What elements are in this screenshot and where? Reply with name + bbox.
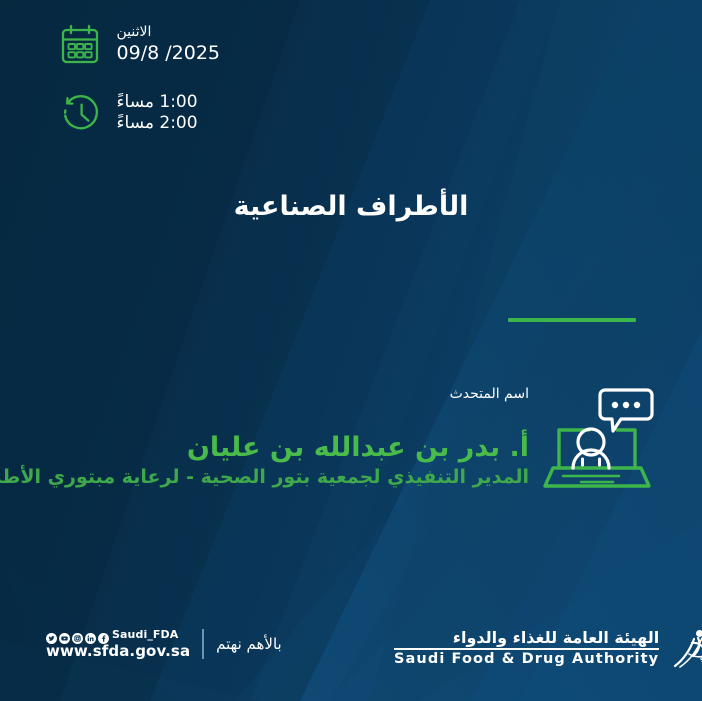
speaker-role: المدير التنفيذي لجمعية بتور الصحية - لرع… xyxy=(0,466,529,488)
footer-contact: Saudi_FDA www.sfda.gov.sa بالأهم نهتم xyxy=(46,628,282,660)
event-date-row: الاثنين 2025/ 09/8 xyxy=(57,22,220,68)
event-day-name: الاثنين xyxy=(117,24,152,42)
linkedin-icon[interactable] xyxy=(85,629,96,640)
facebook-icon[interactable] xyxy=(98,629,109,640)
sfda-brand: SFDA الهيئة العامة للغذاء والدواء Saudi … xyxy=(394,626,702,670)
social-handle: Saudi_FDA xyxy=(112,628,178,641)
laptop-webinar-icon xyxy=(535,376,659,500)
event-time-end: 2:00 مساءً xyxy=(117,113,198,134)
sfda-brand-text: الهيئة العامة للغذاء والدواء Saudi Food … xyxy=(394,629,659,668)
speaker-label: اسم المتحدث xyxy=(0,386,529,402)
footer-slogan: بالأهم نهتم xyxy=(216,635,282,653)
speaker-name: أ. بدر بن عبدالله بن عليان xyxy=(0,432,529,463)
instagram-icon[interactable] xyxy=(72,629,83,640)
brand-underline xyxy=(394,648,659,650)
calendar-icon xyxy=(57,22,103,68)
sfda-name-arabic: الهيئة العامة للغذاء والدواء xyxy=(453,629,659,647)
social-icon-group xyxy=(46,629,109,640)
sfda-logo-mark: SFDA xyxy=(668,626,702,670)
event-meta: الاثنين 2025/ 09/8 1:00 مساءً 2:00 مساءً xyxy=(57,22,220,136)
green-divider xyxy=(508,318,636,322)
sfda-name-english: Saudi Food & Drug Authority xyxy=(394,651,659,668)
clock-icon xyxy=(57,90,103,136)
footer-social-row: Saudi_FDA xyxy=(46,628,190,641)
event-date-text: الاثنين 2025/ 09/8 xyxy=(117,24,220,66)
webinar-announcement-card: الاثنين 2025/ 09/8 1:00 مساءً 2:00 مساءً… xyxy=(0,0,702,701)
event-time-start: 1:00 مساءً xyxy=(117,92,198,113)
website-url[interactable]: www.sfda.gov.sa xyxy=(46,642,190,660)
event-time-row: 1:00 مساءً 2:00 مساءً xyxy=(57,90,198,136)
footer-divider xyxy=(202,629,204,659)
footer-links-stack: Saudi_FDA www.sfda.gov.sa xyxy=(46,628,190,660)
event-time-text: 1:00 مساءً 2:00 مساءً xyxy=(117,92,198,135)
twitter-icon[interactable] xyxy=(46,629,57,640)
youtube-icon[interactable] xyxy=(59,629,70,640)
event-date-value: 2025/ 09/8 xyxy=(117,42,220,66)
page-title: الأطراف الصناعية xyxy=(0,191,702,222)
